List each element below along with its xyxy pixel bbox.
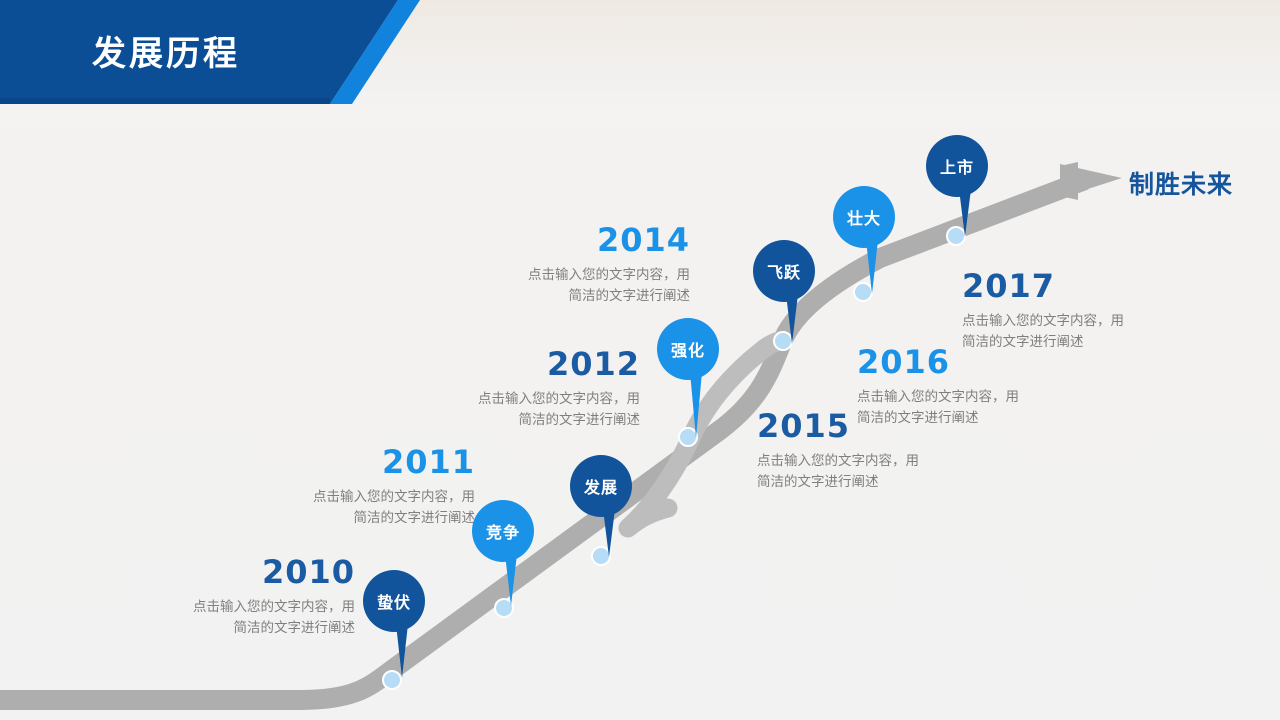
- pin-label-2016: 壮大: [833, 186, 895, 248]
- milestone-pin-2015[interactable]: 飞跃: [753, 240, 815, 302]
- timeline-entry-2016[interactable]: 2016 点击输入您的文字内容，用 简洁的文字进行阐述: [857, 344, 1107, 428]
- year-desc-2016: 点击输入您的文字内容，用 简洁的文字进行阐述: [857, 386, 1107, 428]
- pin-label-2015: 飞跃: [753, 240, 815, 302]
- timeline-entry-2011[interactable]: 2011 点击输入您的文字内容，用 简洁的文字进行阐述: [230, 444, 475, 528]
- year-desc-2012: 点击输入您的文字内容，用 简洁的文字进行阐述: [390, 388, 640, 430]
- pin-label-2010: 蛰伏: [363, 570, 425, 632]
- slide-canvas: 发展历程 蛰伏 竞争: [0, 0, 1280, 720]
- year-label-2010: 2010: [110, 554, 355, 590]
- year-label-2011: 2011: [230, 444, 475, 480]
- milestone-pin-2011[interactable]: 竞争: [472, 500, 534, 562]
- year-desc-2010: 点击输入您的文字内容，用 简洁的文字进行阐述: [110, 596, 355, 638]
- year-desc-2014: 点击输入您的文字内容，用 简洁的文字进行阐述: [440, 264, 690, 306]
- year-label-2014: 2014: [440, 222, 690, 258]
- year-desc-2015: 点击输入您的文字内容，用 简洁的文字进行阐述: [757, 450, 1007, 492]
- pin-label-2014: 强化: [657, 318, 719, 380]
- timeline-entry-2014[interactable]: 2014 点击输入您的文字内容，用 简洁的文字进行阐述: [440, 222, 690, 306]
- milestone-pin-2010[interactable]: 蛰伏: [363, 570, 425, 632]
- timeline-entry-2012[interactable]: 2012 点击输入您的文字内容，用 简洁的文字进行阐述: [390, 346, 640, 430]
- year-desc-2017: 点击输入您的文字内容，用 简洁的文字进行阐述: [962, 310, 1212, 352]
- year-label-2012: 2012: [390, 346, 640, 382]
- page-title: 发展历程: [92, 34, 240, 74]
- end-goal-label: 制胜未来: [1129, 165, 1233, 201]
- milestone-pin-2014[interactable]: 强化: [657, 318, 719, 380]
- timeline-entry-2010[interactable]: 2010 点击输入您的文字内容，用 简洁的文字进行阐述: [110, 554, 355, 638]
- milestone-pin-2016[interactable]: 壮大: [833, 186, 895, 248]
- header-bottom-shade: [0, 98, 330, 104]
- pin-label-2017: 上市: [926, 135, 988, 197]
- header-banner: 发展历程: [0, 0, 420, 104]
- pin-label-2012: 发展: [570, 455, 632, 517]
- year-label-2017: 2017: [962, 268, 1212, 304]
- timeline-entry-2017[interactable]: 2017 点击输入您的文字内容，用 简洁的文字进行阐述: [962, 268, 1212, 352]
- year-desc-2011: 点击输入您的文字内容，用 简洁的文字进行阐述: [230, 486, 475, 528]
- milestone-pin-2012[interactable]: 发展: [570, 455, 632, 517]
- pin-label-2011: 竞争: [472, 500, 534, 562]
- milestone-pin-2017[interactable]: 上市: [926, 135, 988, 197]
